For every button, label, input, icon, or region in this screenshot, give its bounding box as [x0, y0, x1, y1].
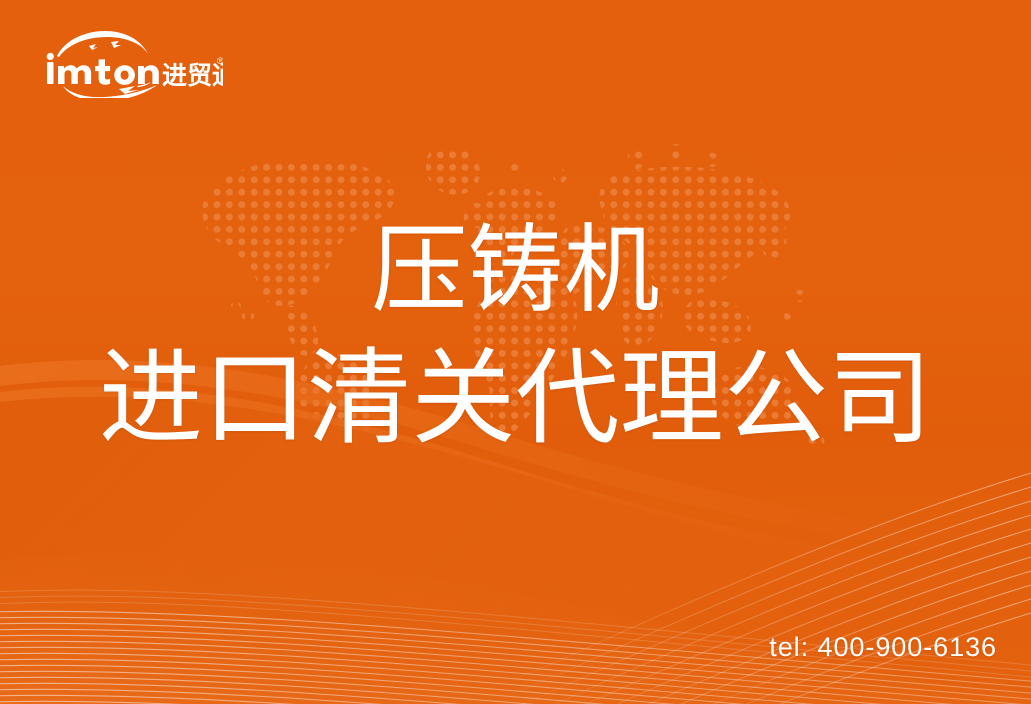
logo-wordmark — [47, 53, 159, 85]
registered-trademark-symbol: ® — [217, 56, 223, 66]
headline-line-2: 进口清关代理公司 — [0, 346, 1031, 466]
globe-arc-icon — [57, 31, 148, 57]
swoosh-arrow-icon — [63, 82, 157, 98]
imton-logo[interactable]: 进贸通 ® — [41, 28, 223, 98]
logo-chinese-name: 进贸通 ® — [162, 56, 223, 90]
phone-number: tel: 400-900-6136 — [769, 632, 997, 663]
logo-chinese-text: 进贸通 — [162, 61, 223, 90]
headline: 压铸机 进口清关代理公司 — [0, 222, 1031, 466]
headline-line-1: 压铸机 — [0, 222, 1031, 334]
banner-root: 进贸通 ® 压铸机 进口清关代理公司 tel: 400-900-6136 — [0, 0, 1031, 704]
